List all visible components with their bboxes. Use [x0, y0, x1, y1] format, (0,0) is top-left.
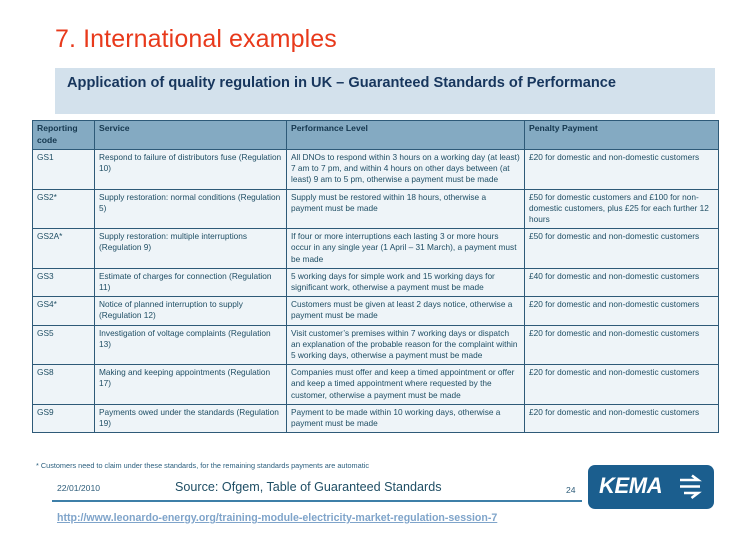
table-row: GS9 Payments owed under the standards (R… — [33, 404, 719, 432]
table-row: GS5 Investigation of voltage complaints … — [33, 325, 719, 365]
cell-penalty-payment: £20 for domestic and non-domestic custom… — [525, 150, 719, 190]
section-banner-title: Application of quality regulation in UK … — [67, 74, 705, 93]
cell-performance-level: All DNOs to respond within 3 hours on a … — [287, 150, 525, 190]
table-row: GS4* Notice of planned interruption to s… — [33, 297, 719, 325]
cell-penalty-payment: £20 for domestic and non-domestic custom… — [525, 325, 719, 365]
table-body: GS1 Respond to failure of distributors f… — [33, 150, 719, 433]
cell-reporting-code: GS8 — [33, 365, 95, 405]
cell-service: Notice of planned interruption to supply… — [95, 297, 287, 325]
guaranteed-standards-table-wrapper: Reporting code Service Performance Level… — [32, 120, 718, 433]
table-row: GS2* Supply restoration: normal conditio… — [33, 189, 719, 229]
page-title: 7. International examples — [55, 25, 337, 54]
cell-service: Estimate of charges for connection (Regu… — [95, 268, 287, 296]
cell-reporting-code: GS3 — [33, 268, 95, 296]
table-row: GS3 Estimate of charges for connection (… — [33, 268, 719, 296]
cell-service: Supply restoration: normal conditions (R… — [95, 189, 287, 229]
cell-penalty-payment: £20 for domestic and non-domestic custom… — [525, 365, 719, 405]
column-header-service: Service — [95, 121, 287, 150]
guaranteed-standards-table: Reporting code Service Performance Level… — [32, 120, 719, 433]
cell-service: Payments owed under the standards (Regul… — [95, 404, 287, 432]
cell-service: Investigation of voltage complaints (Reg… — [95, 325, 287, 365]
cell-performance-level: 5 working days for simple work and 15 wo… — [287, 268, 525, 296]
cell-reporting-code: GS4* — [33, 297, 95, 325]
cell-reporting-code: GS9 — [33, 404, 95, 432]
table-row: GS1 Respond to failure of distributors f… — [33, 150, 719, 190]
cell-penalty-payment: £20 for domestic and non-domestic custom… — [525, 297, 719, 325]
cell-service: Supply restoration: multiple interruptio… — [95, 229, 287, 269]
footer-divider — [52, 500, 582, 502]
cell-reporting-code: GS2A* — [33, 229, 95, 269]
cell-service: Respond to failure of distributors fuse … — [95, 150, 287, 190]
cell-penalty-payment: £20 for domestic and non-domestic custom… — [525, 404, 719, 432]
source-url-link[interactable]: http://www.leonardo-energy.org/training-… — [57, 512, 497, 524]
cell-performance-level: Visit customer’s premises within 7 worki… — [287, 325, 525, 365]
table-header-row: Reporting code Service Performance Level… — [33, 121, 719, 150]
table-row: GS8 Making and keeping appointments (Reg… — [33, 365, 719, 405]
column-header-reporting-code: Reporting code — [33, 121, 95, 150]
kema-logo-wordmark: KEMA — [599, 474, 662, 498]
cell-reporting-code: GS5 — [33, 325, 95, 365]
cell-service: Making and keeping appointments (Regulat… — [95, 365, 287, 405]
cell-penalty-payment: £50 for domestic customers and £100 for … — [525, 189, 719, 229]
cell-reporting-code: GS2* — [33, 189, 95, 229]
kema-logo: KEMA — [588, 465, 714, 509]
slide-page-number: 24 — [566, 485, 576, 495]
cell-performance-level: Customers must be given at least 2 days … — [287, 297, 525, 325]
cell-performance-level: Payment to be made within 10 working day… — [287, 404, 525, 432]
cell-performance-level: If four or more interruptions each lasti… — [287, 229, 525, 269]
table-row: GS2A* Supply restoration: multiple inter… — [33, 229, 719, 269]
section-banner: Application of quality regulation in UK … — [55, 68, 715, 114]
cell-penalty-payment: £40 for domestic and non-domestic custom… — [525, 268, 719, 296]
footer-source-caption: Source: Ofgem, Table of Guaranteed Stand… — [175, 480, 442, 494]
kema-arrow-icon — [678, 474, 704, 500]
column-header-penalty-payment: Penalty Payment — [525, 121, 719, 150]
cell-performance-level: Supply must be restored within 18 hours,… — [287, 189, 525, 229]
cell-reporting-code: GS1 — [33, 150, 95, 190]
table-footnote: * Customers need to claim under these st… — [36, 461, 369, 470]
footer-date: 22/01/2010 — [57, 483, 100, 493]
cell-performance-level: Companies must offer and keep a timed ap… — [287, 365, 525, 405]
cell-penalty-payment: £50 for domestic and non-domestic custom… — [525, 229, 719, 269]
column-header-performance-level: Performance Level — [287, 121, 525, 150]
